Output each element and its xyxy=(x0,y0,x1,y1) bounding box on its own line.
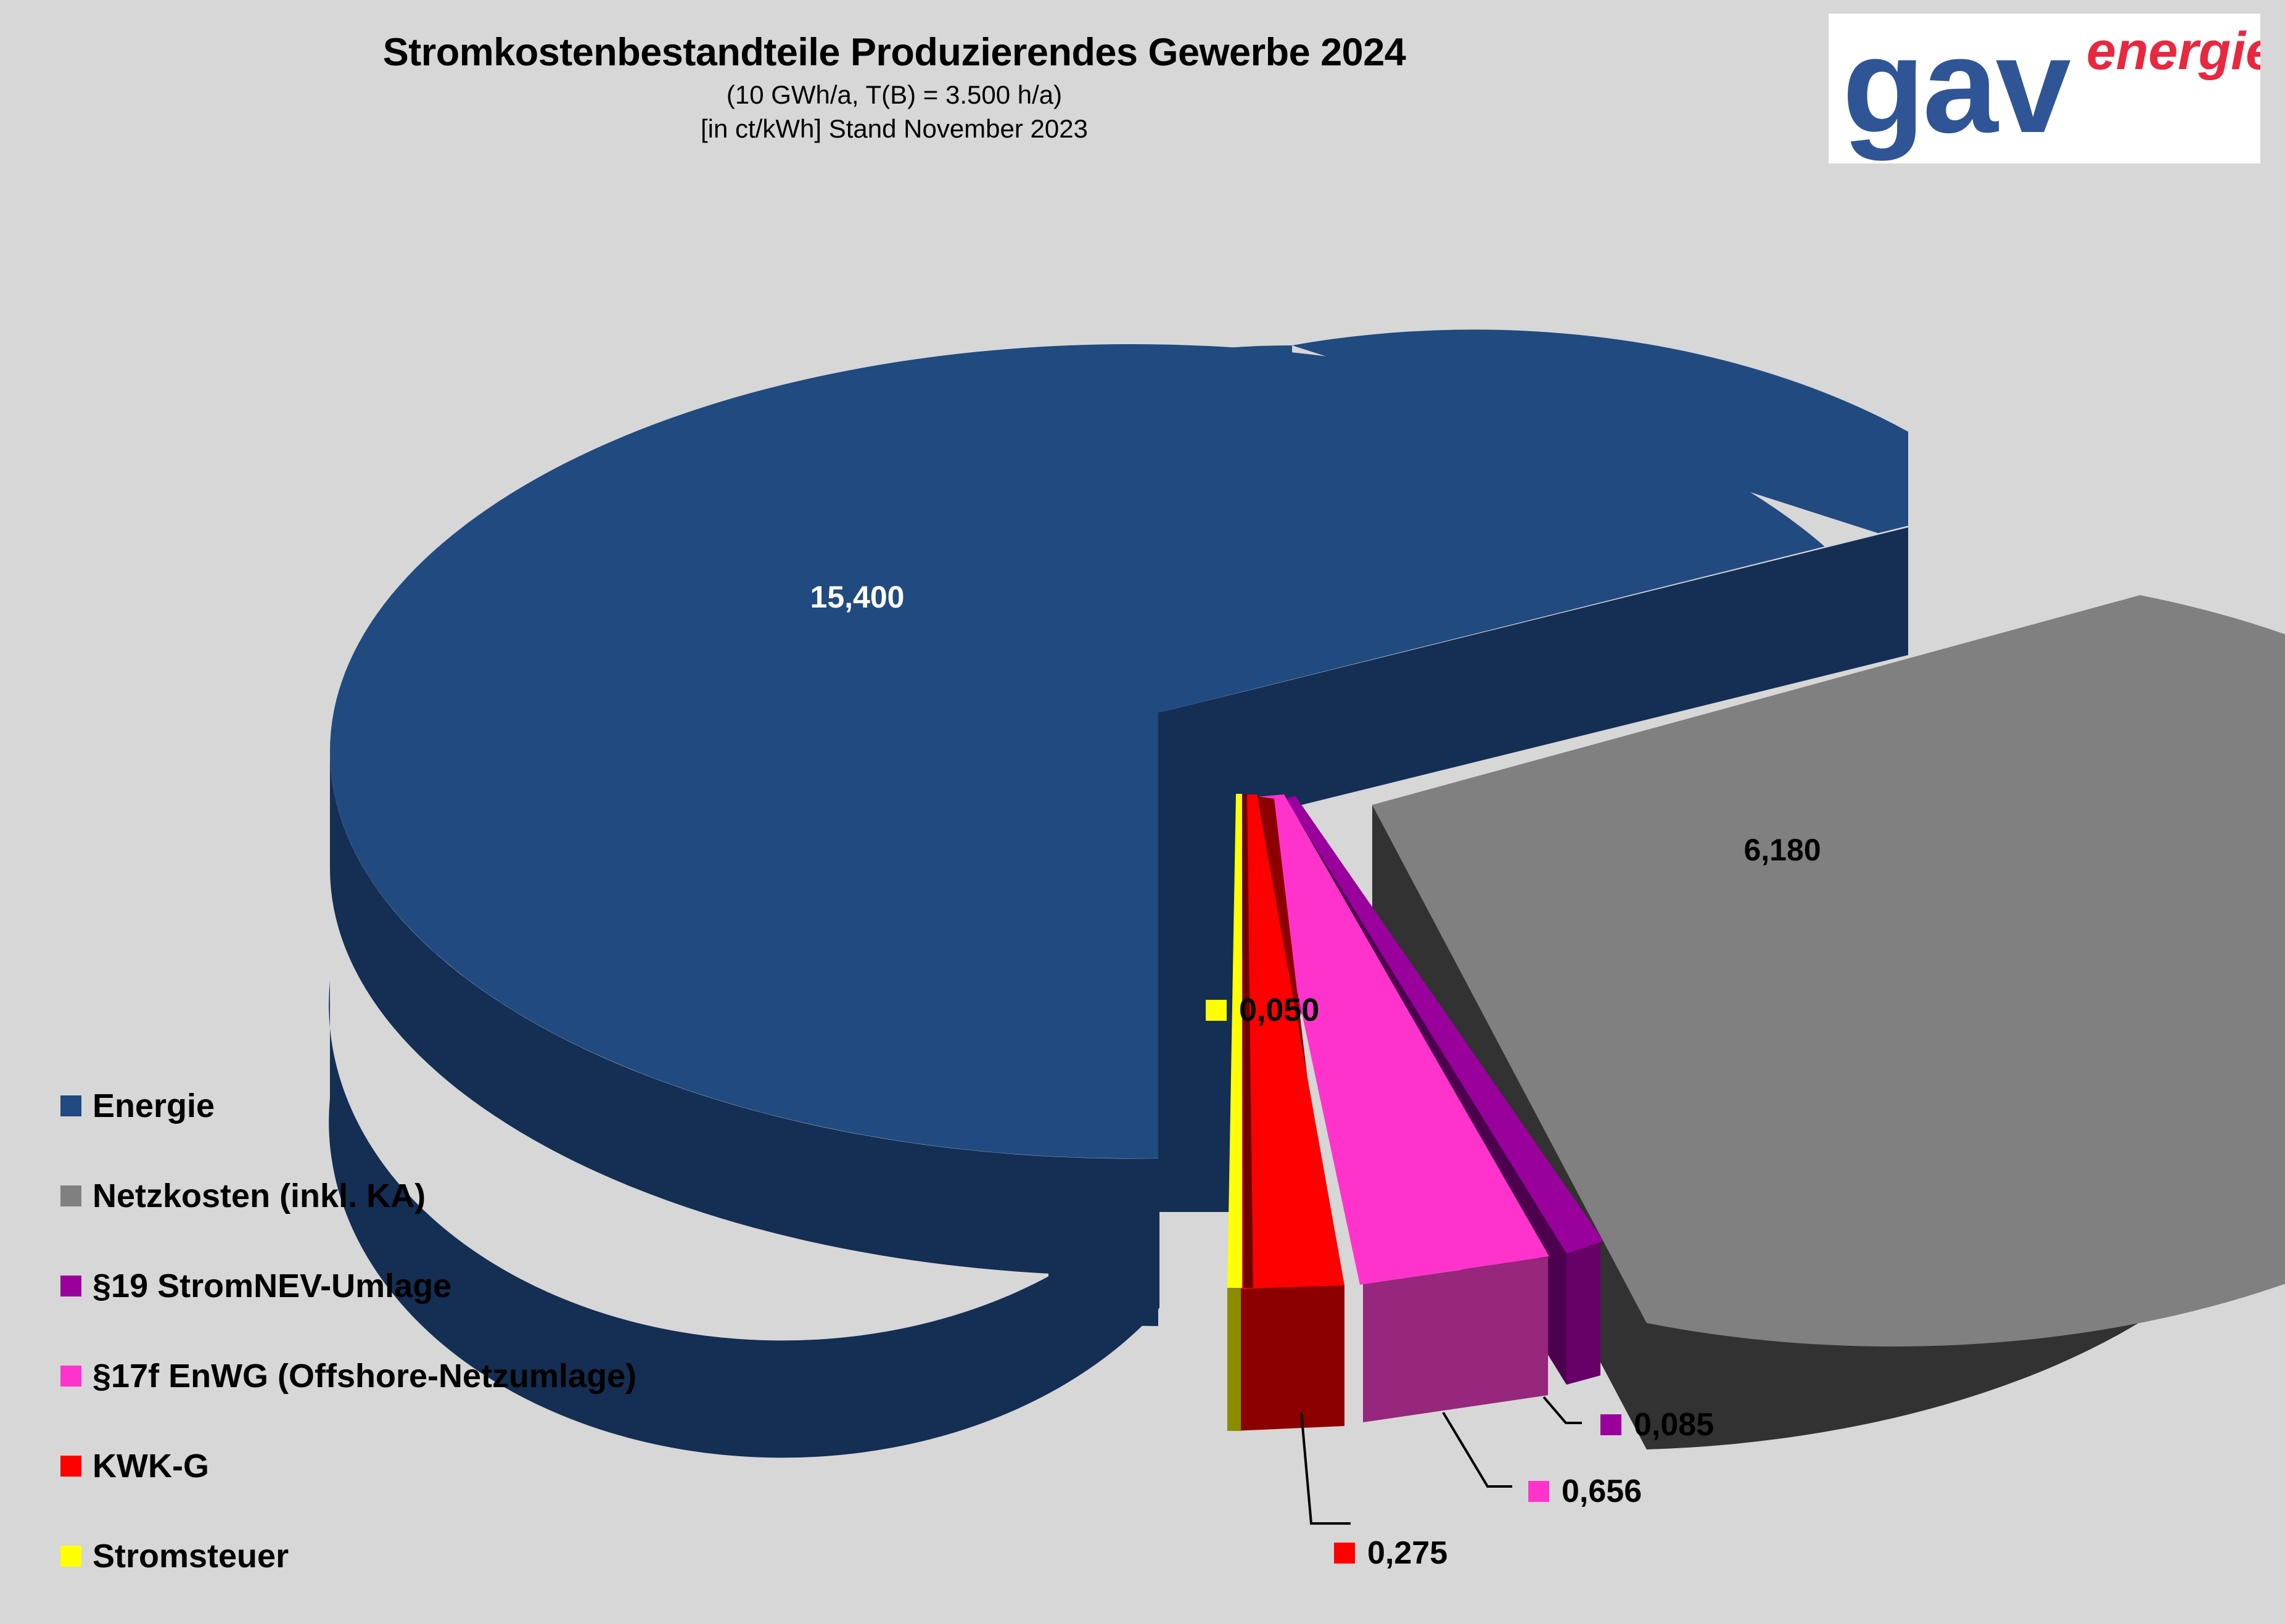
legend: Energie Netzkosten (inkl. KA) §19 StromN… xyxy=(60,1084,636,1624)
callout-swatch-icon xyxy=(1528,1481,1549,1502)
slice-side-offshore-base xyxy=(1363,1257,1548,1422)
legend-item-label: §19 StromNEV-Umlage xyxy=(93,1267,451,1305)
callout-stromsteuer: 0,050 xyxy=(1206,992,1319,1029)
legend-item-netzkosten[interactable]: Netzkosten (inkl. KA) xyxy=(60,1174,636,1218)
legend-item-kwkg[interactable]: KWK-G xyxy=(60,1444,636,1488)
legend-swatch-icon xyxy=(60,1095,81,1116)
legend-swatch-icon xyxy=(60,1276,81,1296)
callout-swatch-icon xyxy=(1600,1414,1621,1435)
callout-kwkg: 0,275 xyxy=(1334,1535,1447,1572)
callout-value: 0,275 xyxy=(1367,1535,1447,1572)
legend-item-offshore[interactable]: §17f EnWG (Offshore-Netzumlage) xyxy=(60,1354,636,1398)
legend-item-label: Netzkosten (inkl. KA) xyxy=(93,1177,426,1215)
slice-side-energie-wall3 xyxy=(1048,1204,1158,1326)
legend-item-label: Energie xyxy=(93,1087,215,1125)
slice-side-stromsteuer xyxy=(1227,1287,1241,1431)
slice-value-energie: 15,400 xyxy=(810,580,905,614)
callout-value: 0,656 xyxy=(1562,1473,1642,1510)
slice-side-kwkg-base xyxy=(1233,1285,1344,1431)
legend-swatch-icon xyxy=(60,1366,81,1387)
legend-item-stromsteuer[interactable]: Stromsteuer xyxy=(60,1534,636,1578)
callout-swatch-icon xyxy=(1206,1000,1227,1021)
slice-side-stromnev-r xyxy=(1567,1243,1600,1385)
slice-value-netzkosten: 6,180 xyxy=(1744,833,1821,867)
legend-item-stromnev[interactable]: §19 StromNEV-Umlage xyxy=(60,1264,636,1308)
legend-item-energie[interactable]: Energie xyxy=(60,1084,636,1128)
legend-swatch-icon xyxy=(60,1546,81,1567)
legend-item-label: KWK-G xyxy=(93,1447,209,1485)
legend-item-label: §17f EnWG (Offshore-Netzumlage) xyxy=(93,1357,636,1395)
callout-value: 0,050 xyxy=(1239,992,1319,1029)
legend-item-label: Stromsteuer xyxy=(93,1537,289,1575)
callout-swatch-icon xyxy=(1334,1543,1355,1564)
callout-stromnev: 0,085 xyxy=(1600,1406,1714,1443)
callout-value: 0,085 xyxy=(1634,1406,1714,1443)
legend-swatch-icon xyxy=(60,1456,81,1477)
callout-offshore: 0,656 xyxy=(1528,1473,1642,1510)
legend-swatch-icon xyxy=(60,1185,81,1206)
